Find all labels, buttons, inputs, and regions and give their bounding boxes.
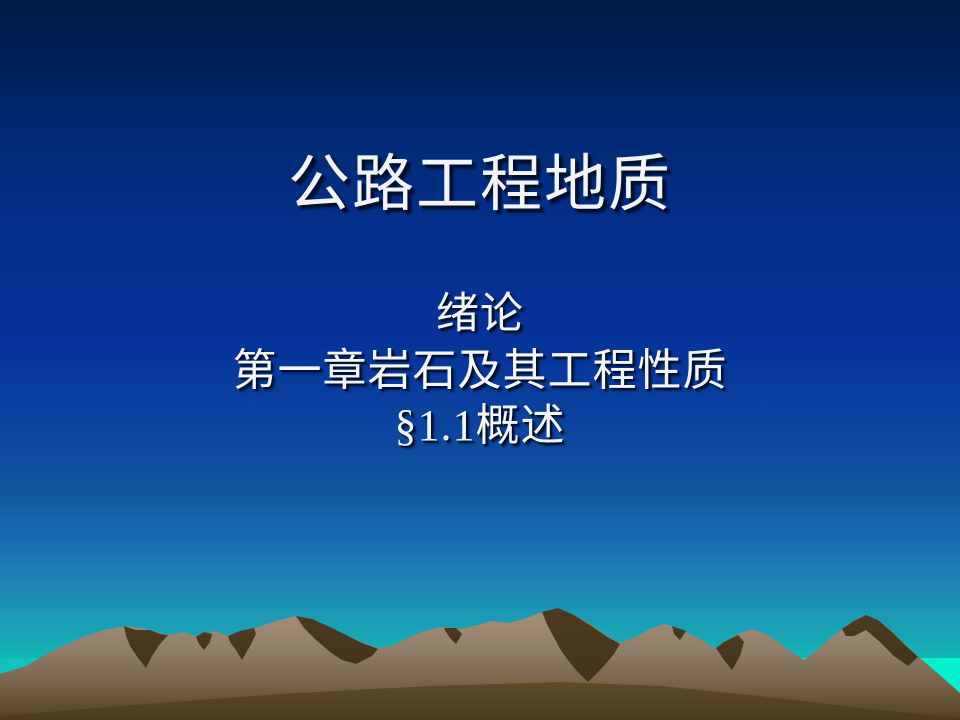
subtitle-line-1: 绪论: [0, 288, 960, 343]
page-title: 公路工程地质: [0, 152, 960, 219]
slide-canvas: 公路工程地质 绪论 第一章岩石及其工程性质 §1.1概述: [0, 0, 960, 720]
slide-text-layer: 公路工程地质 绪论 第一章岩石及其工程性质 §1.1概述: [0, 0, 960, 720]
subtitle-line-2: 第一章岩石及其工程性质: [0, 343, 960, 399]
subtitle-line-3: §1.1概述: [0, 398, 960, 454]
subtitle-block: 绪论 第一章岩石及其工程性质 §1.1概述: [0, 288, 960, 454]
